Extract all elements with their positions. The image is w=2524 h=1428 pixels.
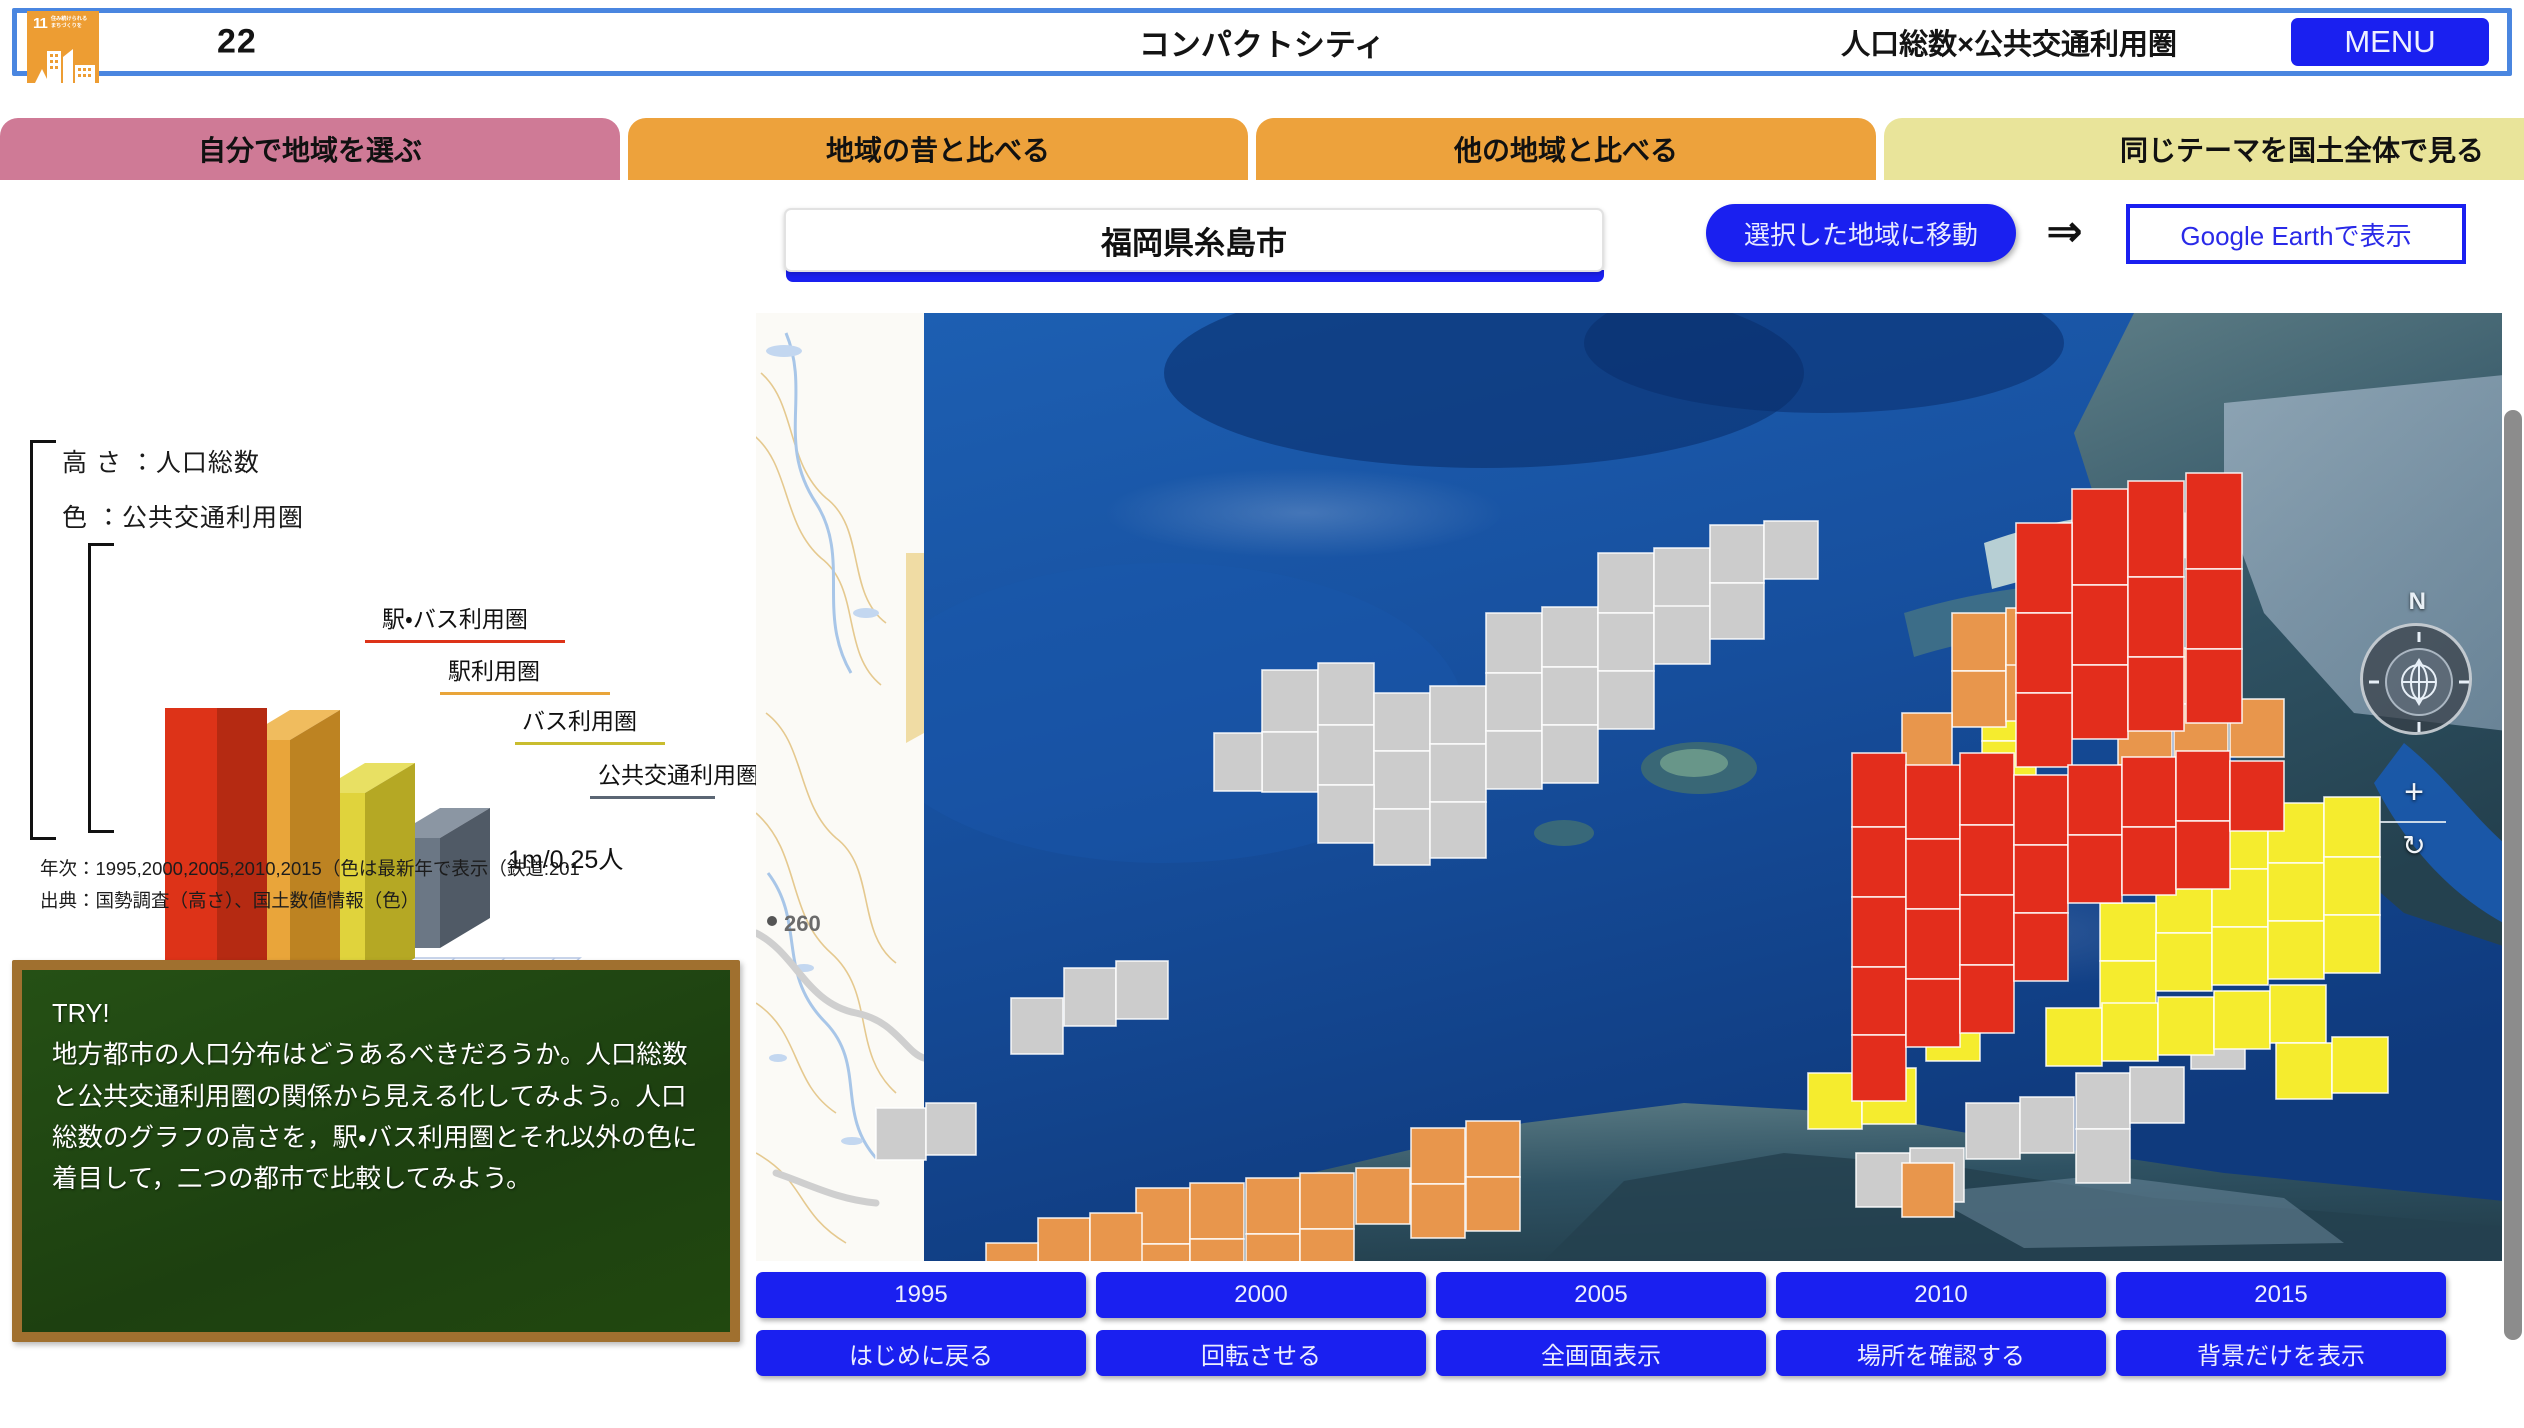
map-viewport[interactable]: 260 — [756, 313, 2524, 1261]
year-button-1995[interactable]: 1995 — [756, 1272, 1086, 1318]
google-earth-button[interactable]: Google Earthで表示 — [2126, 204, 2466, 264]
zoom-in-button[interactable]: + — [2396, 775, 2432, 809]
app-header: 11 住み続けられるまちづくりを 22 コンパクトシティ 人口総数×公共交 — [12, 8, 2512, 76]
page-scrollbar-thumb[interactable] — [2504, 410, 2522, 1340]
map-toolbar: 福岡県糸島市 選択した地域に移動 ⇒ Google Earthで表示 — [756, 188, 2524, 313]
legend-inner-bracket — [88, 543, 114, 833]
legend-outer-bracket — [30, 440, 56, 840]
year-button-2015[interactable]: 2015 — [2116, 1272, 2446, 1318]
go-to-region-button[interactable]: 選択した地域に移動 — [1706, 204, 2016, 262]
legend-label-outside: 公共交通利用圏外 — [598, 756, 756, 790]
year-button-2000[interactable]: 2000 — [1096, 1272, 1426, 1318]
right-arrow-icon: ⇒ — [2046, 206, 2083, 257]
legend-label-bus: バス利用圏 — [522, 702, 637, 736]
legend-line-station — [440, 692, 610, 695]
reset-view-button[interactable]: はじめに戻る — [756, 1330, 1086, 1376]
location-input[interactable]: 福岡県糸島市 — [784, 208, 1604, 272]
legend-label-station-bus: 駅・バス利用圏 — [382, 600, 528, 634]
tab-bar: 自分で地域を選ぶ 地域の昔と比べる 他の地域と比べる 典型例とその解説 同じテー… — [0, 118, 2524, 180]
tab-select-region[interactable]: 自分で地域を選ぶ — [0, 118, 620, 180]
try-heading: TRY! — [52, 994, 700, 1035]
menu-button[interactable]: MENU — [2291, 18, 2489, 66]
legend-line-bus — [515, 742, 665, 745]
check-location-button[interactable]: 場所を確認する — [1776, 1330, 2106, 1376]
legend-color-label: 色 ：公共交通利用圏 — [62, 498, 304, 534]
legend-height-label: 高 さ ：人口総数 — [62, 443, 260, 479]
legend-years-note: 年次：1995,2000,2005,2010,2015（色は最新年で表示（鉄道:… — [40, 853, 580, 885]
background-only-button[interactable]: 背景だけを表示 — [2116, 1330, 2446, 1376]
legend-panel: 高 さ ：人口総数 色 ：公共交通利用圏 — [0, 188, 756, 1428]
rotate-button[interactable]: 回転させる — [1096, 1330, 1426, 1376]
tab-compare-other-region[interactable]: 他の地域と比べる — [1256, 118, 1876, 180]
legend-notes: 年次：1995,2000,2005,2010,2015（色は最新年で表示（鉄道:… — [40, 853, 580, 918]
compass-north-label: N — [2409, 588, 2426, 616]
population-3d-bars — [756, 313, 2524, 1261]
theme-title: 人口総数×公共交通利用圏 — [1841, 21, 2177, 63]
fullscreen-button[interactable]: 全画面表示 — [1436, 1330, 1766, 1376]
compass-globe-icon — [2363, 626, 2475, 738]
page-scrollbar-track[interactable] — [2502, 188, 2524, 1428]
year-button-row: 1995 2000 2005 2010 2015 — [756, 1272, 2524, 1318]
control-button-row: はじめに戻る 回転させる 全画面表示 場所を確認する 背景だけを表示 — [756, 1330, 2524, 1376]
nav-separator — [2380, 821, 2446, 823]
reset-tilt-button[interactable]: ↻ — [2396, 829, 2432, 862]
legend-source-note: 出典：国勢調査（高さ）、国土数値情報（色） — [40, 885, 580, 917]
legend-line-station-bus — [365, 640, 565, 643]
legend-line-outside — [590, 796, 715, 799]
tab-compare-past[interactable]: 地域の昔と比べる — [628, 118, 1248, 180]
year-button-2005[interactable]: 2005 — [1436, 1272, 1766, 1318]
try-box: TRY! 地方都市の人口分布はどうあるべきだろうか。人口総数と公共交通利用圏の関… — [12, 960, 740, 1342]
compass-icon[interactable] — [2360, 623, 2472, 735]
tab-nationwide-view[interactable]: 同じテーマを国土全体で見る — [2022, 118, 2524, 180]
try-body: 地方都市の人口分布はどうあるべきだろうか。人口総数と公共交通利用圏の関係から見え… — [52, 1035, 700, 1200]
legend-label-station: 駅利用圏 — [448, 652, 540, 686]
year-button-2010[interactable]: 2010 — [1776, 1272, 2106, 1318]
